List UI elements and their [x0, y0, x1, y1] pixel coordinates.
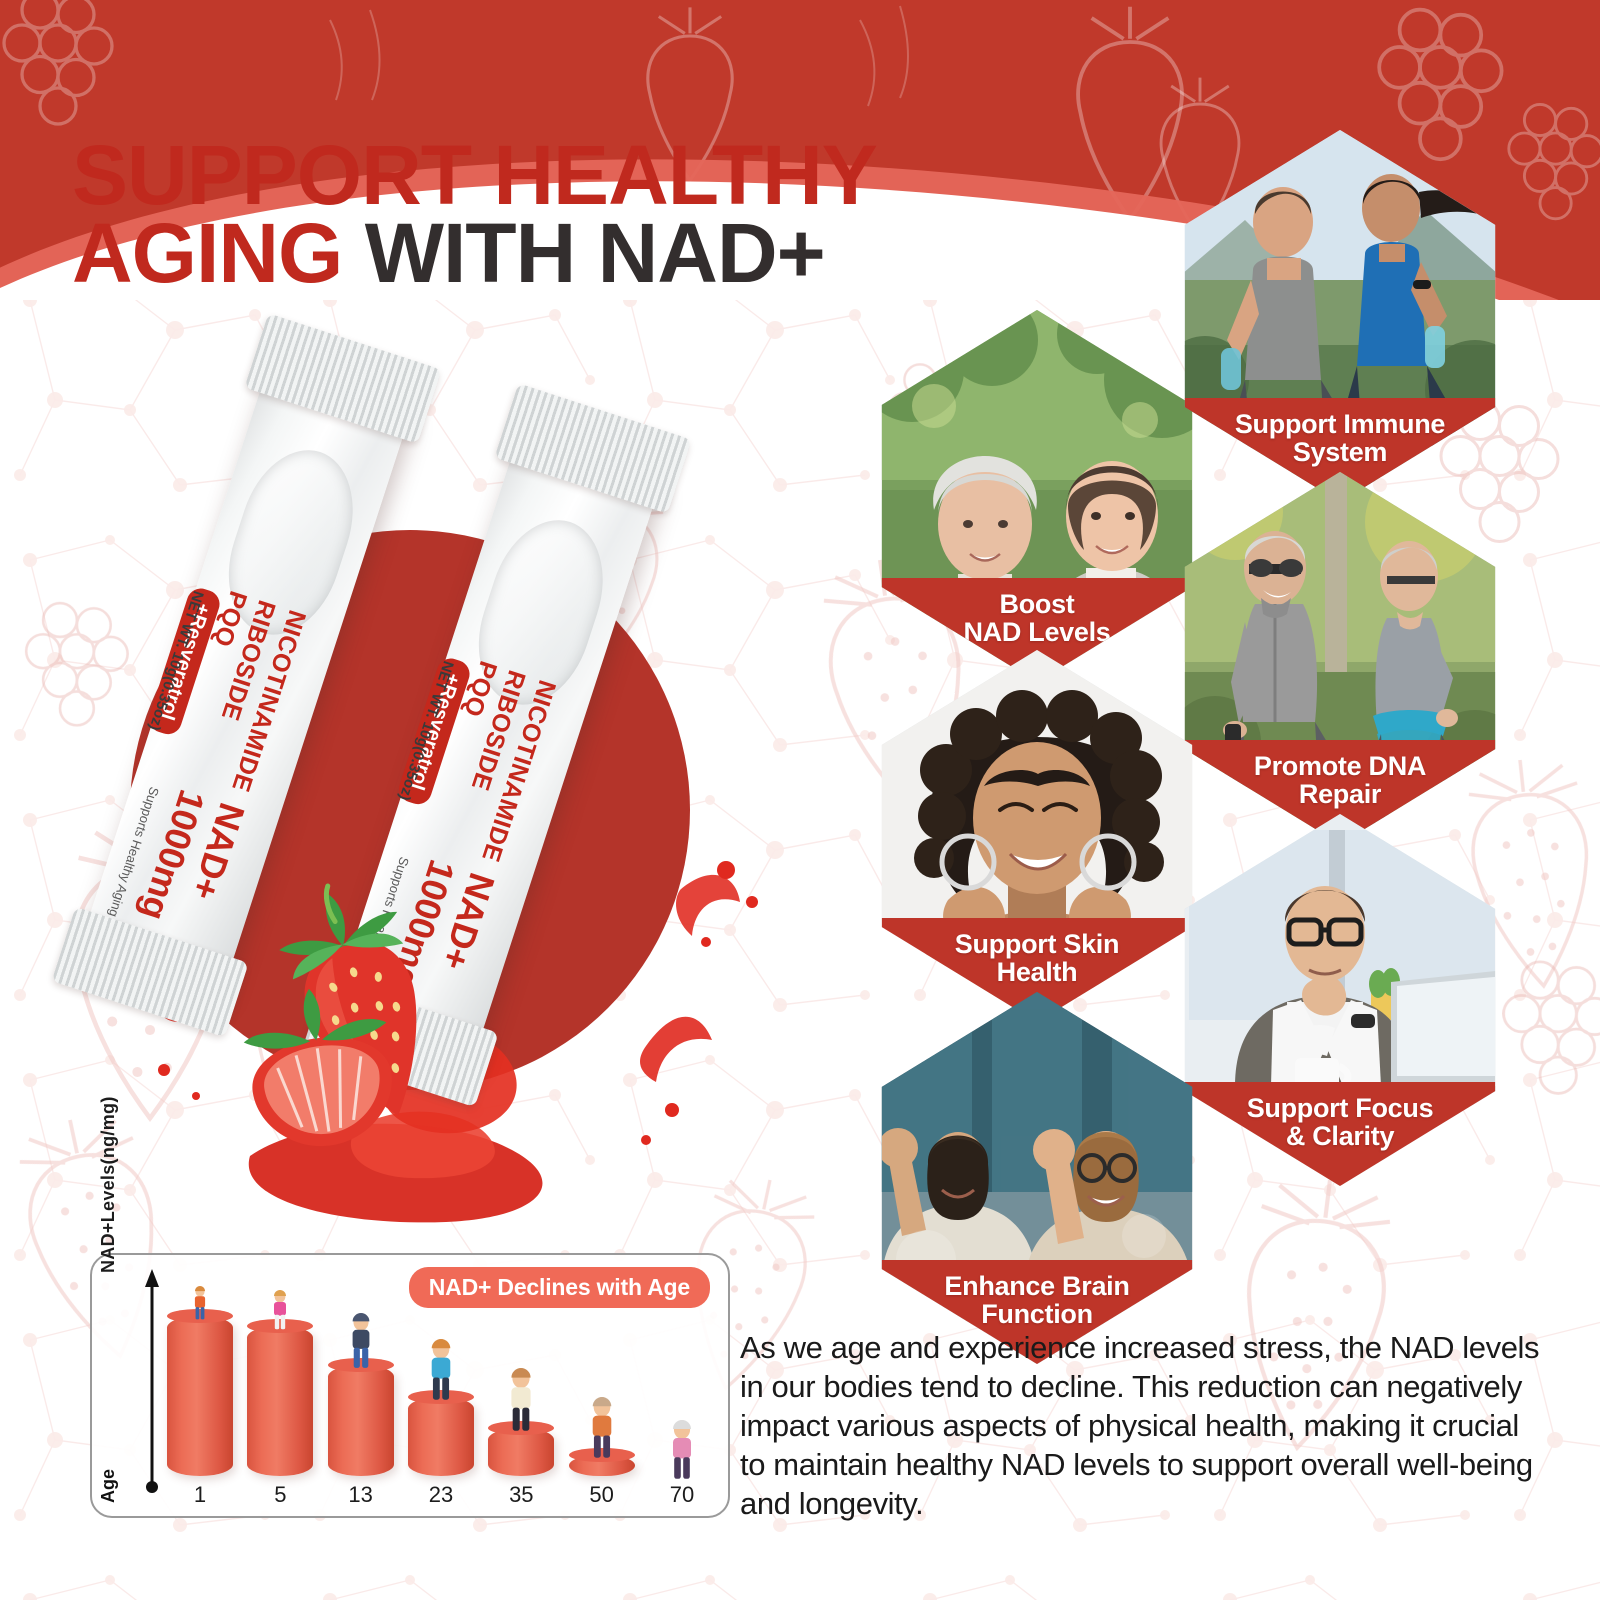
chart-x-tick-label: 5: [244, 1482, 316, 1508]
benefit-label-band: Support Focus & Clarity: [1175, 1082, 1505, 1186]
benefit-hex-support-focus-clarity[interactable]: Support Focus & Clarity: [1175, 814, 1505, 1186]
sachet-crimp-top: [244, 313, 441, 443]
benefit-hex-promote-dna-repair[interactable]: Promote DNA Repair: [1175, 472, 1505, 844]
chart-person-icon: [498, 1368, 544, 1432]
benefit-label-line1: Support Skin: [941, 929, 1133, 959]
chart-x-tick-label: 1: [164, 1482, 236, 1508]
chart-bar: [328, 1365, 394, 1476]
benefit-label-line1: Support Focus: [1233, 1093, 1448, 1123]
description-paragraph: As we age and experience increased stres…: [740, 1328, 1540, 1523]
benefits-grid: Boost NAD Levels: [810, 120, 1590, 1320]
chart-x-tick-label: 23: [405, 1482, 477, 1508]
chart-bar-column: [566, 1286, 638, 1476]
chart-bar-column: [405, 1286, 477, 1476]
benefit-label-line2: System: [1279, 437, 1401, 467]
chart-bar-column: [244, 1286, 316, 1476]
chart-x-tick-label: 70: [646, 1482, 718, 1508]
chart-bar-column: [485, 1286, 557, 1476]
chart-axis-arrow: [144, 1269, 160, 1497]
chart-person-figure: [257, 1290, 303, 1330]
benefit-label-line2: Repair: [1285, 779, 1395, 809]
headline-nad-text: WITH NAD+: [365, 206, 825, 300]
chart-x-tick-label: 50: [566, 1482, 638, 1508]
chart-person-figure: [177, 1286, 223, 1320]
chart-bar: [488, 1428, 554, 1476]
chart-bar: [408, 1397, 474, 1476]
sachet-crimp-top: [494, 383, 691, 513]
chart-bar-column: [325, 1286, 397, 1476]
chart-plot-area: [164, 1273, 718, 1476]
chart-y-axis-label: NAD+Levels(ng/mg): [98, 1093, 119, 1273]
benefit-label-line1: Enhance Brain: [930, 1271, 1143, 1301]
chart-person-icon: [579, 1397, 625, 1459]
chart-person-figure: [659, 1420, 705, 1480]
strawberry-garnish: [210, 860, 530, 1190]
chart-person-icon: [257, 1290, 303, 1330]
headline-aging-text: AGING: [72, 206, 342, 300]
poster-canvas: SUPPORT HEALTHY AGING WITH NAD+: [0, 0, 1600, 1600]
benefit-label-line2: & Clarity: [1272, 1121, 1408, 1151]
chart-bar: [247, 1326, 313, 1476]
chart-x-tick-labels: 151323355070: [164, 1482, 718, 1508]
chart-x-tick-label: 13: [325, 1482, 397, 1508]
benefit-hex-support-immune-system[interactable]: Support Immune System: [1175, 130, 1505, 502]
benefit-hex-boost-nad-levels[interactable]: Boost NAD Levels: [872, 310, 1202, 682]
chart-person-figure: [418, 1339, 464, 1401]
benefit-label-line2: Health: [983, 957, 1092, 987]
chart-bar-column: [164, 1286, 236, 1476]
benefit-label-line1: Support Immune: [1221, 409, 1459, 439]
benefit-label-line2: NAD Levels: [949, 617, 1124, 647]
benefit-label-line1: Boost: [986, 589, 1089, 619]
nad-decline-chart: NAD+Levels(ng/mg) Age NAD+ Declines with…: [90, 1253, 730, 1518]
benefit-label-line1: Promote DNA: [1240, 751, 1440, 781]
benefit-hex-enhance-brain-function[interactable]: Enhance Brain Function: [872, 992, 1202, 1364]
chart-person-figure: [338, 1313, 384, 1369]
benefit-hex-support-skin-health[interactable]: Support Skin Health: [872, 650, 1202, 1022]
chart-person-figure: [579, 1397, 625, 1459]
chart-bar-column: [646, 1286, 718, 1476]
benefit-label-line2: Function: [967, 1299, 1107, 1329]
chart-bar: [167, 1316, 233, 1476]
chart-x-axis-label: Age: [98, 1469, 119, 1503]
product-shot: NICOTINAMIDE RIBOSIDE PQQ +Resveratrol N…: [60, 330, 800, 1230]
chart-person-icon: [659, 1420, 705, 1480]
chart-bars: [164, 1286, 718, 1476]
chart-x-tick-label: 35: [485, 1482, 557, 1508]
chart-person-icon: [177, 1286, 223, 1320]
chart-person-icon: [338, 1313, 384, 1369]
chart-person-icon: [418, 1339, 464, 1401]
chart-person-figure: [498, 1368, 544, 1432]
